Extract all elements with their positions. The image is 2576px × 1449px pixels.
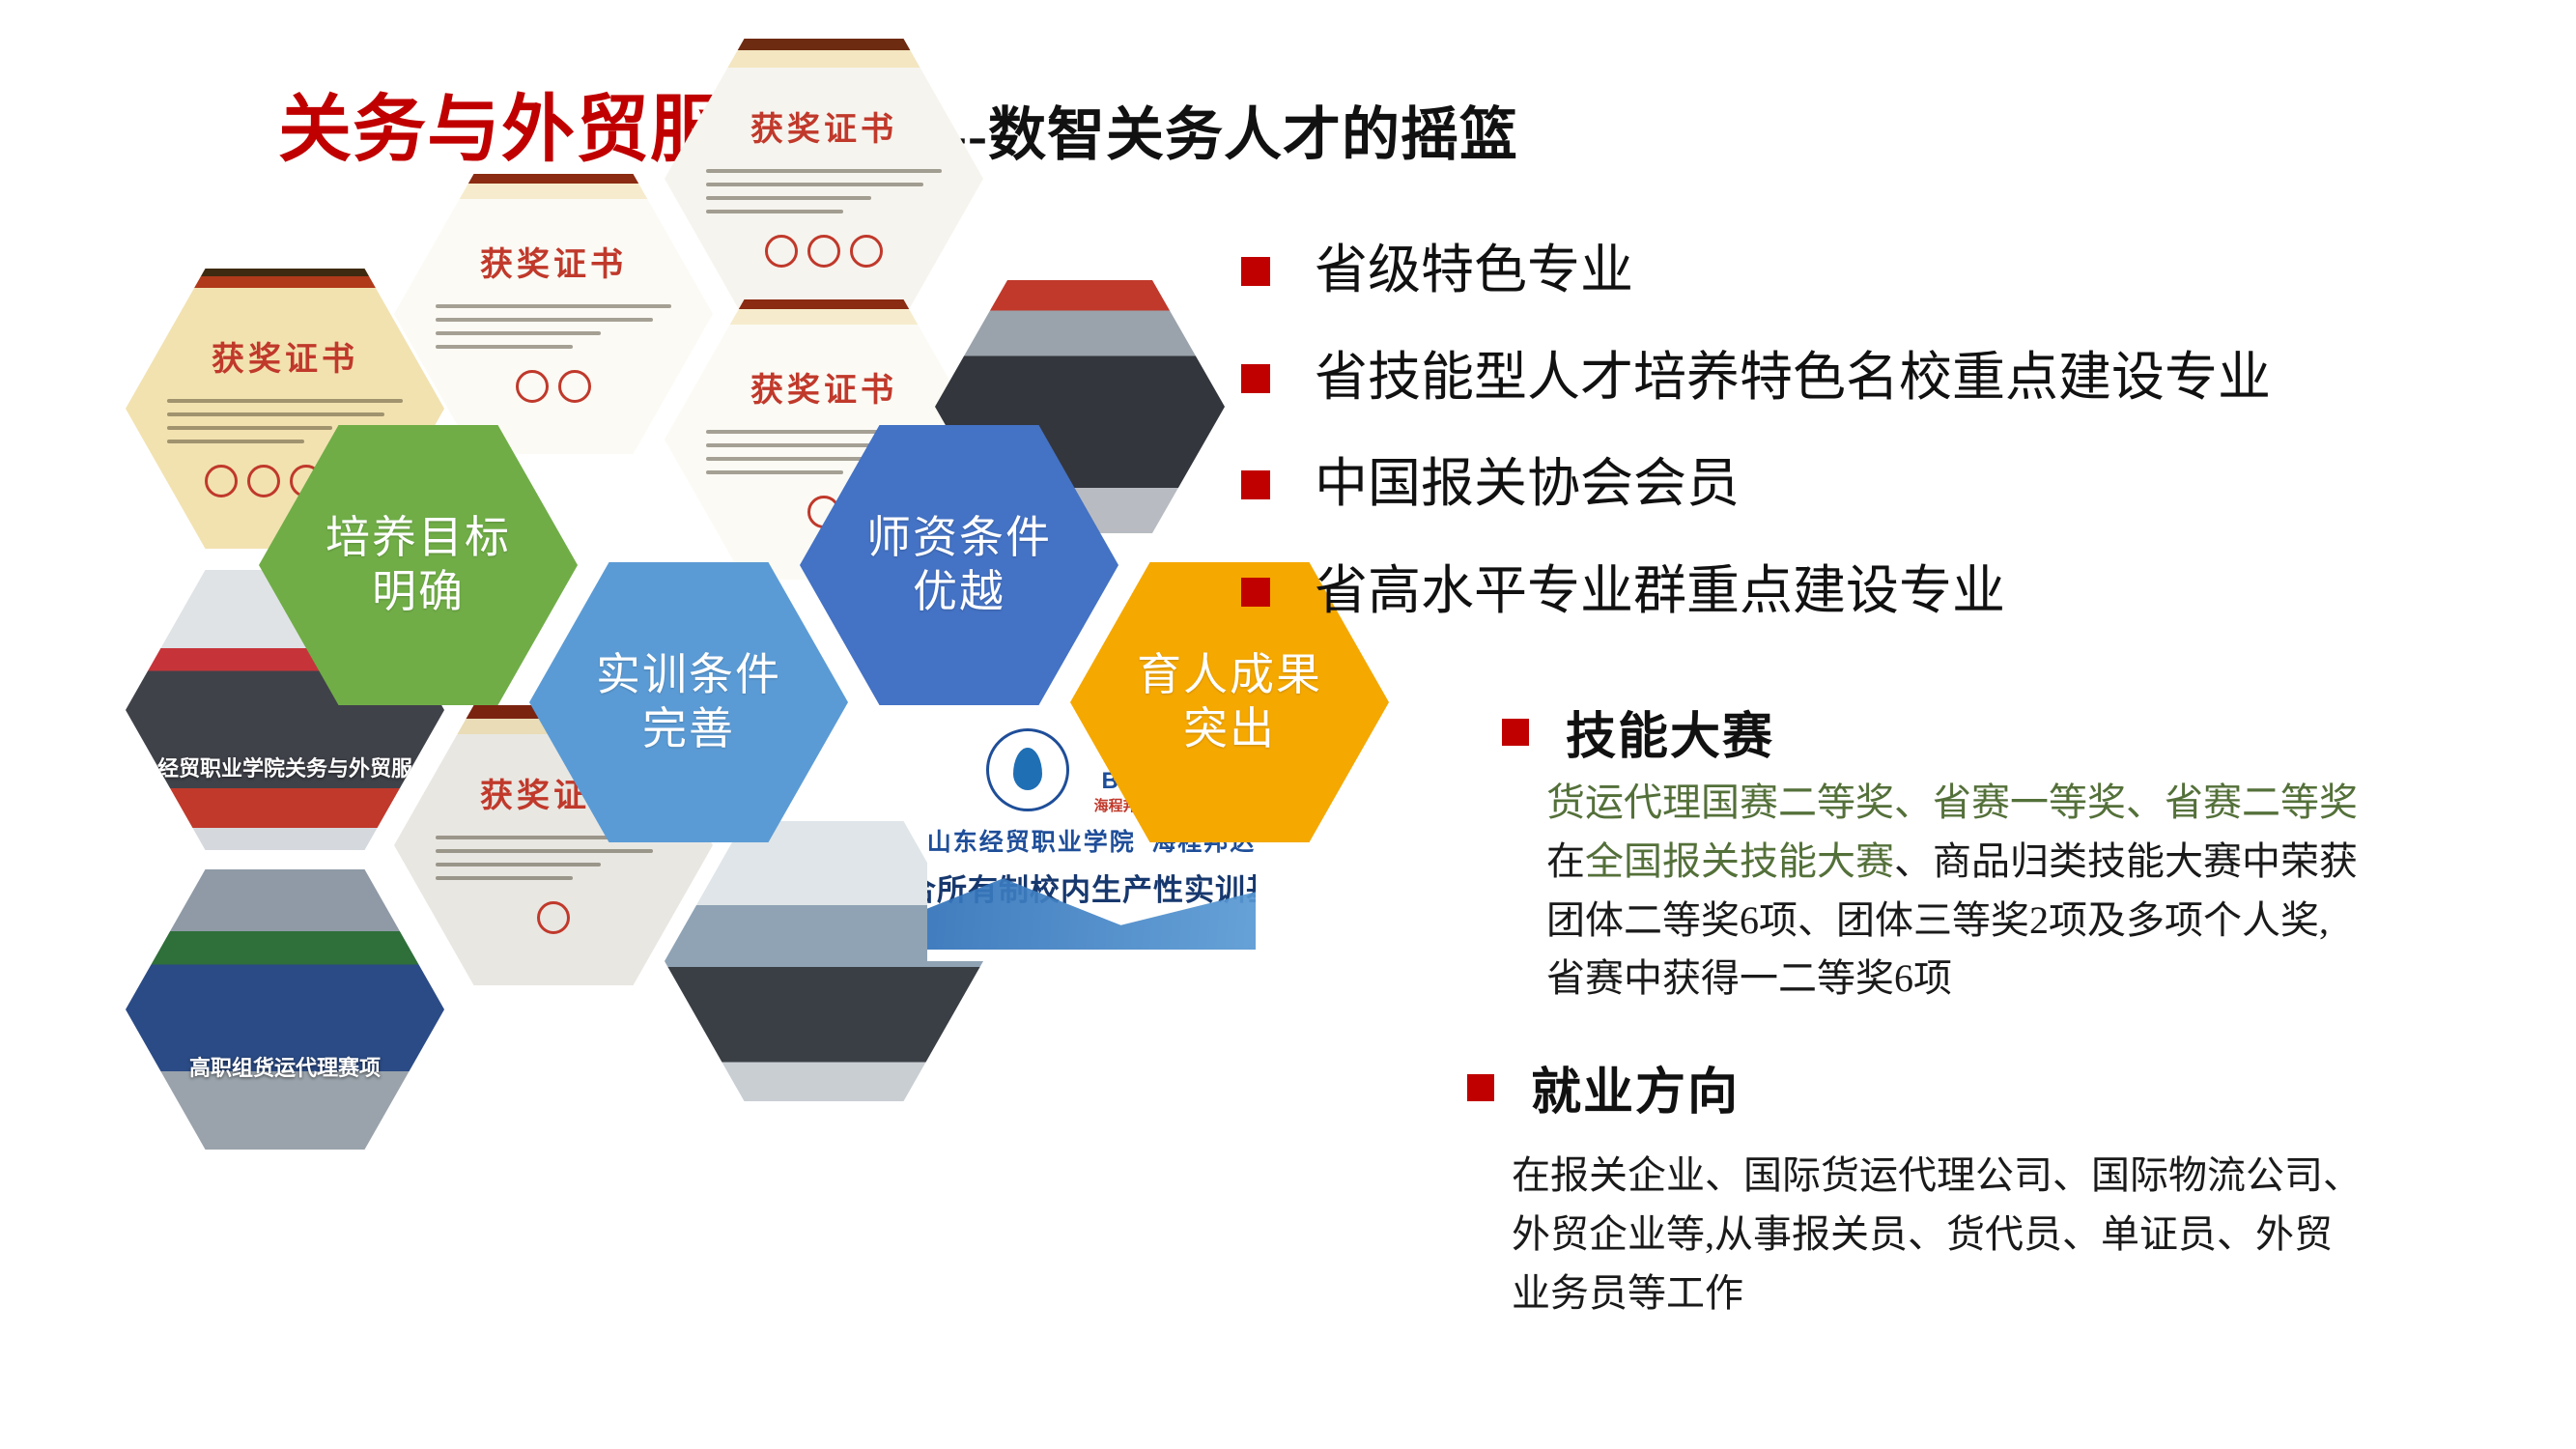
school-name: 山东经贸职业学院	[927, 830, 1136, 856]
certificate-title: 获奖证书	[480, 238, 627, 285]
bullet-label: 省级特色专业	[1315, 241, 1633, 300]
section-header: 就业方向	[1467, 1051, 2574, 1123]
bullet-square-icon	[1467, 1074, 1494, 1101]
section-body: 货运代理国赛二等奖、省赛一等奖、省赛二等奖 在全国报关技能大赛、商品归类技能大赛…	[1546, 774, 2574, 1009]
bullet-square-icon	[1241, 470, 1270, 499]
body-span-green: 货运代理国赛二等奖、省赛一等奖、省赛二等奖	[1546, 781, 2358, 824]
hex-goal-line1: 培养目标	[326, 513, 511, 562]
body-line: 省赛中获得一二等奖6项	[1546, 950, 2574, 1009]
section-title: 就业方向	[1531, 1051, 1740, 1123]
body-span: 在报关企业、国际货运代理公司、国际物流公司、	[1512, 1153, 2362, 1197]
bullet-square-icon	[1502, 719, 1529, 746]
bullet-square-icon	[1241, 578, 1270, 607]
bullet-label: 省技能型人才培养特色名校重点建设专业	[1315, 349, 2271, 408]
body-span: 团体二等奖6项、团体三等奖2项及多项个人奖,	[1546, 898, 2329, 942]
hex-training-line1: 实训条件	[596, 650, 781, 699]
certificate-body-lines	[706, 159, 942, 223]
certificate-body-lines	[436, 295, 671, 358]
detail-sections: 技能大赛 货运代理国赛二等奖、省赛一等奖、省赛二等奖 在全国报关技能大赛、商品归…	[1502, 696, 2574, 1323]
body-line: 在报关企业、国际货运代理公司、国际物流公司、	[1512, 1147, 2574, 1206]
body-line: 在全国报关技能大赛、商品归类技能大赛中荣获	[1546, 833, 2574, 892]
hexagon-cluster: 获奖证书 获奖证书 获奖证书 获奖证书	[0, 184, 1275, 1343]
certificate-title: 获奖证书	[750, 363, 897, 411]
hex-faculty-line1: 师资条件	[866, 513, 1052, 562]
hex-photo-contest: 高职组货运代理赛项	[126, 869, 444, 1150]
bullet-item: 省级特色专业	[1241, 241, 2526, 300]
certificate-seals	[765, 235, 883, 268]
section-skills-competition: 技能大赛 货运代理国赛二等奖、省赛一等奖、省赛二等奖 在全国报关技能大赛、商品归…	[1502, 696, 2574, 1009]
hex-training-label: 实训条件 完善	[584, 648, 793, 756]
body-line: 业务员等工作	[1512, 1264, 2574, 1323]
bullet-item: 省技能型人才培养特色名校重点建设专业	[1241, 349, 2526, 408]
slide-canvas: 关务与外贸服务专业--数智关务人才的摇篮 获奖证书 获奖证书 获奖证书	[0, 0, 2576, 1449]
section-employment-direction: 就业方向 在报关企业、国际货运代理公司、国际物流公司、 外贸企业等,从事报关员、…	[1502, 1051, 2574, 1322]
school-emblem-icon	[986, 728, 1069, 811]
body-span: 在	[1546, 839, 1585, 883]
photo-caption: 经贸职业学院关务与外贸服	[126, 752, 444, 782]
section-title: 技能大赛	[1566, 696, 1774, 768]
bullet-label: 中国报关协会会员	[1315, 455, 1740, 514]
hex-training-line2: 完善	[642, 704, 735, 753]
bullet-square-icon	[1241, 364, 1270, 393]
certificate-title: 获奖证书	[750, 102, 897, 150]
hex-faculty-label: 师资条件 优越	[855, 511, 1063, 619]
feature-bullet-list: 省级特色专业 省技能型人才培养特色名校重点建设专业 中国报关协会会员 省高水平专…	[1241, 241, 2526, 668]
body-span: 省赛中获得一二等奖6项	[1546, 956, 1952, 1000]
body-line: 货运代理国赛二等奖、省赛一等奖、省赛二等奖	[1546, 774, 2574, 833]
hex-goal-label: 培养目标 明确	[314, 511, 523, 619]
bullet-item: 中国报关协会会员	[1241, 455, 2526, 514]
body-span: 、商品归类技能大赛中荣获	[1894, 839, 2358, 883]
body-line: 外贸企业等,从事报关员、货代员、单证员、外贸	[1512, 1206, 2574, 1264]
body-span: 业务员等工作	[1512, 1271, 1743, 1315]
hex-goal-line2: 明确	[372, 567, 465, 616]
section-header: 技能大赛	[1502, 696, 2574, 768]
certificate-seals	[537, 901, 570, 934]
title-subtitle-text: --数智关务人才的摇篮	[948, 103, 1518, 167]
bullet-square-icon	[1241, 257, 1270, 286]
body-line: 团体二等奖6项、团体三等奖2项及多项个人奖,	[1546, 892, 2574, 951]
hex-faculty-line2: 优越	[913, 567, 1005, 616]
bullet-item: 省高水平专业群重点建设专业	[1241, 562, 2526, 621]
section-body: 在报关企业、国际货运代理公司、国际物流公司、 外贸企业等,从事报关员、货代员、单…	[1512, 1147, 2574, 1322]
photo-caption: 高职组货运代理赛项	[126, 1051, 444, 1082]
body-span-green: 全国报关技能大赛	[1585, 839, 1894, 883]
certificate-title: 获奖证书	[212, 332, 358, 380]
certificate-seals	[516, 370, 591, 403]
bullet-label: 省高水平专业群重点建设专业	[1315, 562, 2005, 621]
hex-outcome-line2: 突出	[1183, 704, 1276, 753]
body-span: 外贸企业等,从事报关员、货代员、单证员、外贸	[1512, 1212, 2333, 1256]
